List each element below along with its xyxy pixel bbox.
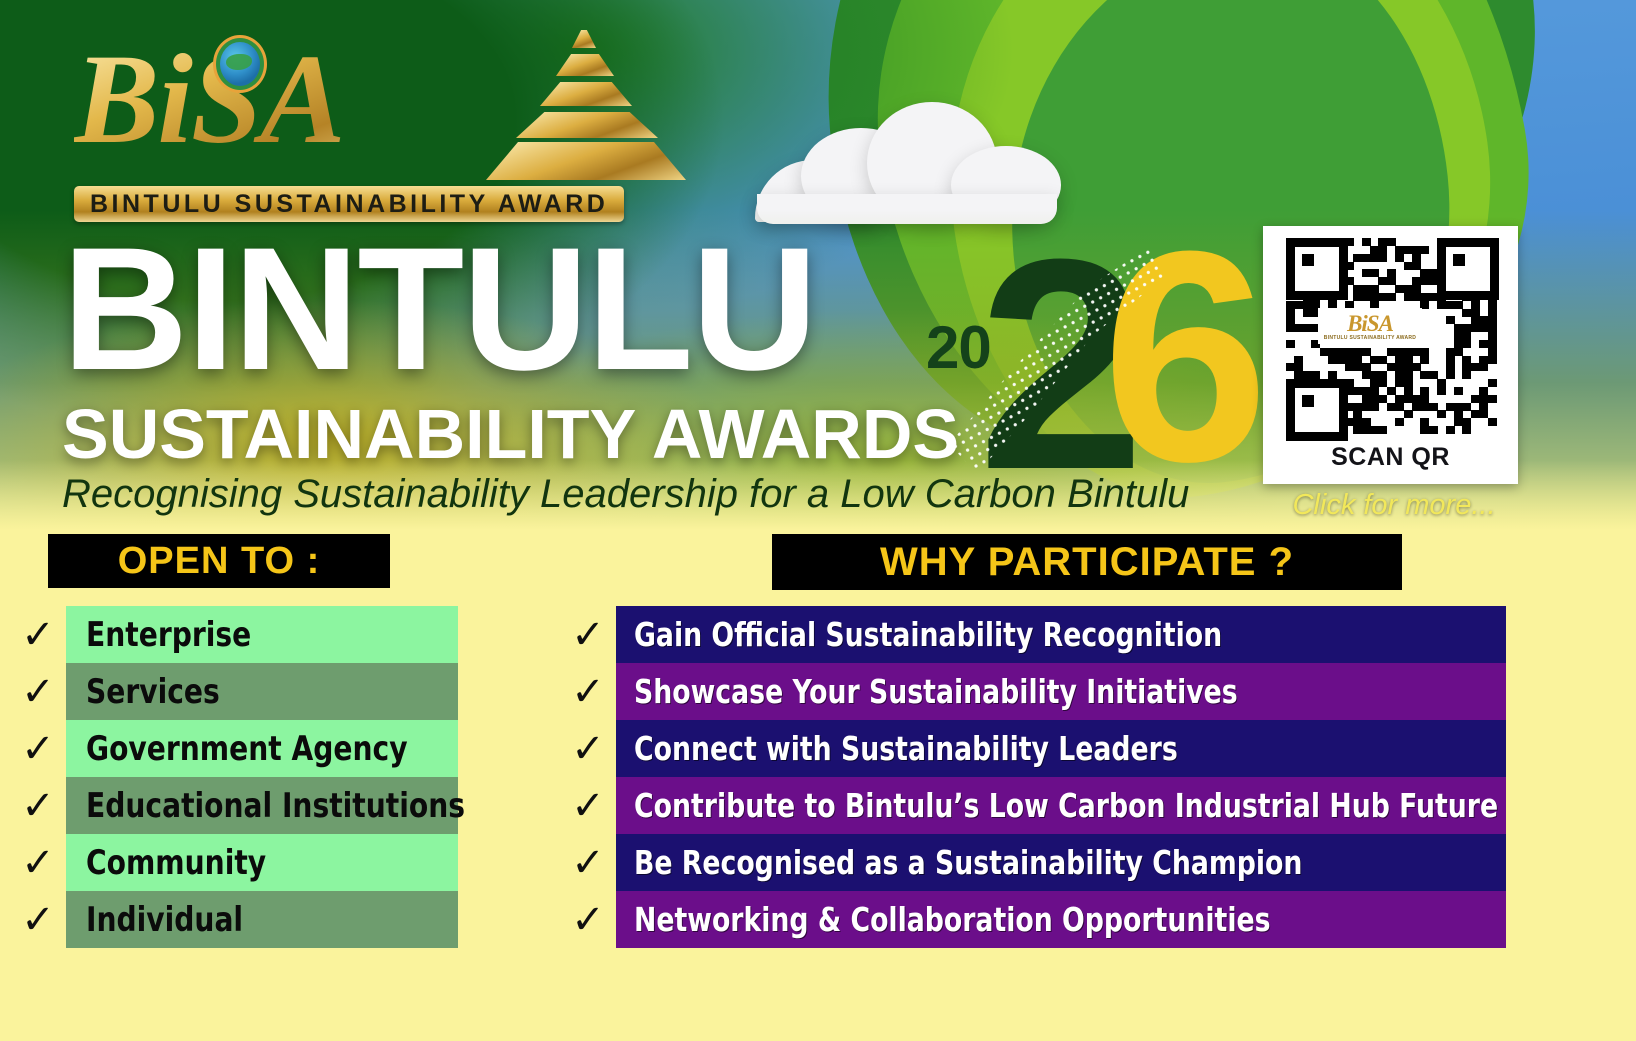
check-icon: ✓: [10, 900, 66, 940]
year-lockup: 2 6 20: [916, 236, 1216, 496]
why-item-chip: Contribute to Bintulu’s Low Carbon Indus…: [616, 777, 1506, 834]
open-to-banner: OPEN TO :: [48, 534, 390, 588]
open-to-item-label: Services: [86, 672, 220, 712]
open-to-item-chip: Community: [66, 834, 458, 891]
check-icon: ✓: [560, 843, 616, 883]
open-to-item-label: Enterprise: [86, 615, 251, 655]
why-item-label: Networking & Collaboration Opportunities: [634, 900, 1271, 939]
qr-caption: SCAN QR: [1263, 443, 1518, 472]
open-to-item-label: Community: [86, 843, 266, 883]
check-icon: ✓: [10, 729, 66, 769]
qr-card[interactable]: BiSA BINTULU SUSTAINABILITY AWARD SCAN Q…: [1263, 226, 1518, 484]
list-item: ✓Gain Official Sustainability Recognitio…: [560, 606, 1620, 663]
why-item-chip: Connect with Sustainability Leaders: [616, 720, 1506, 777]
list-item: ✓Services: [10, 663, 480, 720]
qr-inner-logo: BiSA BINTULU SUSTAINABILITY AWARD: [1318, 308, 1422, 344]
why-item-label: Be Recognised as a Sustainability Champi…: [634, 843, 1302, 882]
open-to-item-chip: Services: [66, 663, 458, 720]
why-participate-banner: WHY PARTICIPATE ?: [772, 534, 1402, 590]
list-item: ✓Individual: [10, 891, 480, 948]
open-to-item-label: Individual: [86, 900, 243, 940]
check-icon: ✓: [560, 615, 616, 655]
open-to-item-label: Government Agency: [86, 729, 408, 769]
check-icon: ✓: [560, 729, 616, 769]
click-for-more-link[interactable]: Click for more...: [1263, 489, 1525, 522]
bisa-logo: BiSA BINTULU SUSTAINABILITY AWARD: [74, 24, 674, 214]
open-to-banner-label: OPEN TO :: [118, 540, 321, 583]
check-icon: ✓: [560, 672, 616, 712]
why-item-chip: Networking & Collaboration Opportunities: [616, 891, 1506, 948]
list-item: ✓Be Recognised as a Sustainability Champ…: [560, 834, 1620, 891]
why-item-label: Contribute to Bintulu’s Low Carbon Indus…: [634, 786, 1498, 825]
check-icon: ✓: [10, 786, 66, 826]
check-icon: ✓: [10, 672, 66, 712]
why-item-chip: Gain Official Sustainability Recognition: [616, 606, 1506, 663]
open-to-item-chip: Government Agency: [66, 720, 458, 777]
check-icon: ✓: [10, 615, 66, 655]
check-icon: ✓: [560, 900, 616, 940]
check-icon: ✓: [560, 786, 616, 826]
list-item: ✓Educational Institutions: [10, 777, 480, 834]
year-digit-6: 6: [1102, 206, 1269, 506]
why-item-label: Showcase Your Sustainability Initiatives: [634, 672, 1238, 711]
list-item: ✓Contribute to Bintulu’s Low Carbon Indu…: [560, 777, 1620, 834]
list-item: ✓Enterprise: [10, 606, 480, 663]
why-item-label: Gain Official Sustainability Recognition: [634, 615, 1222, 654]
why-item-label: Connect with Sustainability Leaders: [634, 729, 1178, 768]
list-item: ✓Community: [10, 834, 480, 891]
qr-inner-logo-mark: BiSA: [1347, 312, 1393, 335]
list-item: ✓Showcase Your Sustainability Initiative…: [560, 663, 1620, 720]
list-item: ✓Government Agency: [10, 720, 480, 777]
page-subtitle: SUSTAINABILITY AWARDS: [62, 398, 959, 470]
tiered-tower-icon: [486, 30, 686, 180]
qr-inner-logo-sub: BINTULU SUSTAINABILITY AWARD: [1324, 335, 1416, 341]
year-prefix-20: 20: [926, 318, 991, 378]
open-to-item-chip: Individual: [66, 891, 458, 948]
open-to-item-chip: Educational Institutions: [66, 777, 458, 834]
why-item-chip: Showcase Your Sustainability Initiatives: [616, 663, 1506, 720]
list-item: ✓Connect with Sustainability Leaders: [560, 720, 1620, 777]
why-participate-list: ✓Gain Official Sustainability Recognitio…: [560, 606, 1620, 948]
poster-root: BiSA BINTULU SUSTAINABILITY AWARD BINTUL…: [0, 0, 1636, 1041]
why-participate-banner-label: WHY PARTICIPATE ?: [880, 540, 1294, 585]
open-to-item-label: Educational Institutions: [86, 786, 465, 826]
open-to-list: ✓Enterprise✓Services✓Government Agency✓E…: [10, 606, 480, 948]
globe-icon: [220, 42, 260, 86]
page-title: BINTULU: [62, 222, 816, 397]
list-item: ✓Networking & Collaboration Opportunitie…: [560, 891, 1620, 948]
check-icon: ✓: [10, 843, 66, 883]
why-item-chip: Be Recognised as a Sustainability Champi…: [616, 834, 1506, 891]
open-to-item-chip: Enterprise: [66, 606, 458, 663]
